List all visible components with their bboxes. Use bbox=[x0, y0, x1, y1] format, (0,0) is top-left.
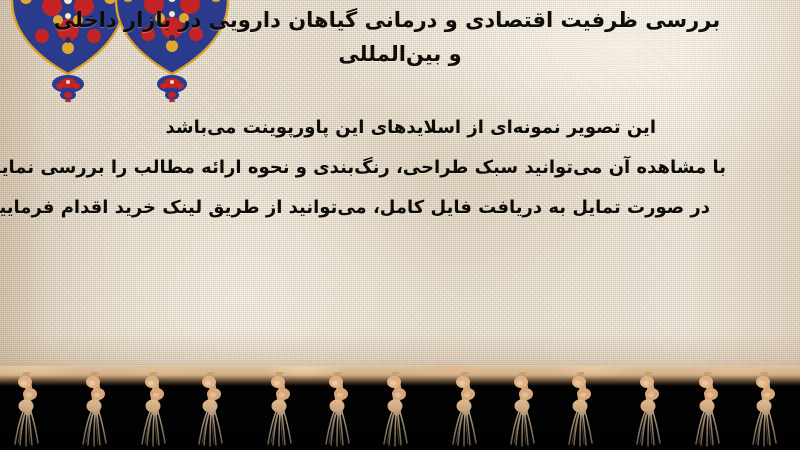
fringe-tassel bbox=[14, 372, 48, 448]
fringe-tassel bbox=[383, 372, 417, 448]
ornament-pendant bbox=[52, 75, 84, 102]
ornament-pendant bbox=[157, 75, 187, 102]
fringe-tassel bbox=[198, 372, 232, 448]
slide-canvas: بررسی ظرفیت اقتصادی و درمانی گیاهان دارو… bbox=[0, 0, 800, 450]
carpet-fringe bbox=[0, 366, 800, 450]
slide-title-line-1: بررسی ظرفیت اقتصادی و درمانی گیاهان دارو… bbox=[0, 3, 800, 37]
fringe-tassel bbox=[321, 372, 355, 448]
fringe-tassel bbox=[506, 372, 540, 448]
fringe-tassel bbox=[260, 372, 294, 448]
fringe-tassel bbox=[137, 372, 171, 448]
fringe-tassel bbox=[691, 372, 725, 448]
body-line-1: این تصویر نمونه‌ای از اسلایدهای این پاور… bbox=[60, 108, 740, 148]
slide-title: بررسی ظرفیت اقتصادی و درمانی گیاهان دارو… bbox=[0, 3, 800, 71]
fringe-tassel bbox=[75, 372, 109, 448]
body-line-2: با مشاهده آن می‌توانید سبک طراحی، رنگ‌بن… bbox=[60, 148, 740, 188]
fringe-tassel bbox=[752, 372, 786, 448]
slide-title-line-2: و بین‌المللی bbox=[0, 37, 800, 71]
body-line-3: در صورت تمایل به دریافت فایل کامل، می‌تو… bbox=[60, 188, 740, 228]
slide-body: این تصویر نمونه‌ای از اسلایدهای این پاور… bbox=[60, 108, 740, 228]
fringe-tassel bbox=[445, 372, 479, 448]
fringe-tassel bbox=[629, 372, 663, 448]
fringe-tassel bbox=[568, 372, 602, 448]
